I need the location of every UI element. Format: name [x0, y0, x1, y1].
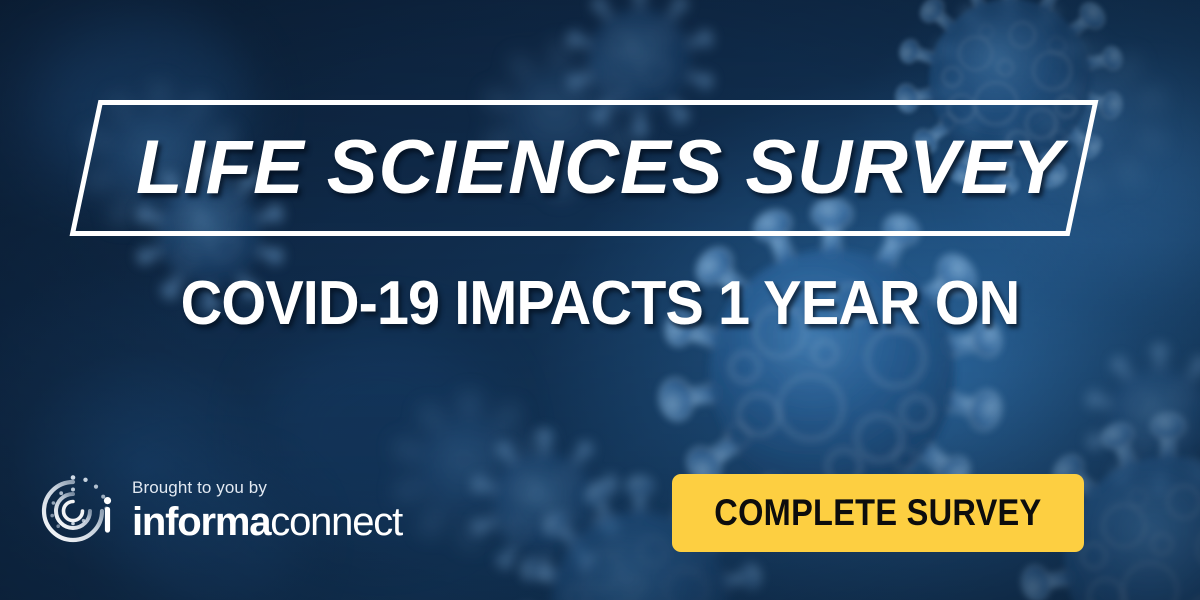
brought-to-you-by-label: Brought to you by — [132, 478, 402, 498]
brand-copy: Brought to you by informaconnect — [132, 478, 402, 544]
survey-promo-banner: LIFE SCIENCES SURVEY COVID-19 IMPACTS 1 … — [0, 0, 1200, 600]
page-subtitle: COVID-19 IMPACTS 1 YEAR ON — [42, 268, 1158, 340]
brand-lockup: Brought to you by informaconnect — [30, 468, 402, 554]
complete-survey-button-label: COMPLETE SURVEY — [714, 492, 1041, 534]
page-title: LIFE SCIENCES SURVEY — [0, 118, 1200, 218]
informa-connect-wordmark: informaconnect — [132, 500, 402, 544]
wordmark-connect: connect — [270, 500, 402, 544]
complete-survey-button[interactable]: COMPLETE SURVEY — [672, 474, 1084, 552]
wordmark-informa: informa — [132, 500, 270, 544]
informa-swirl-logo-icon — [30, 468, 116, 554]
